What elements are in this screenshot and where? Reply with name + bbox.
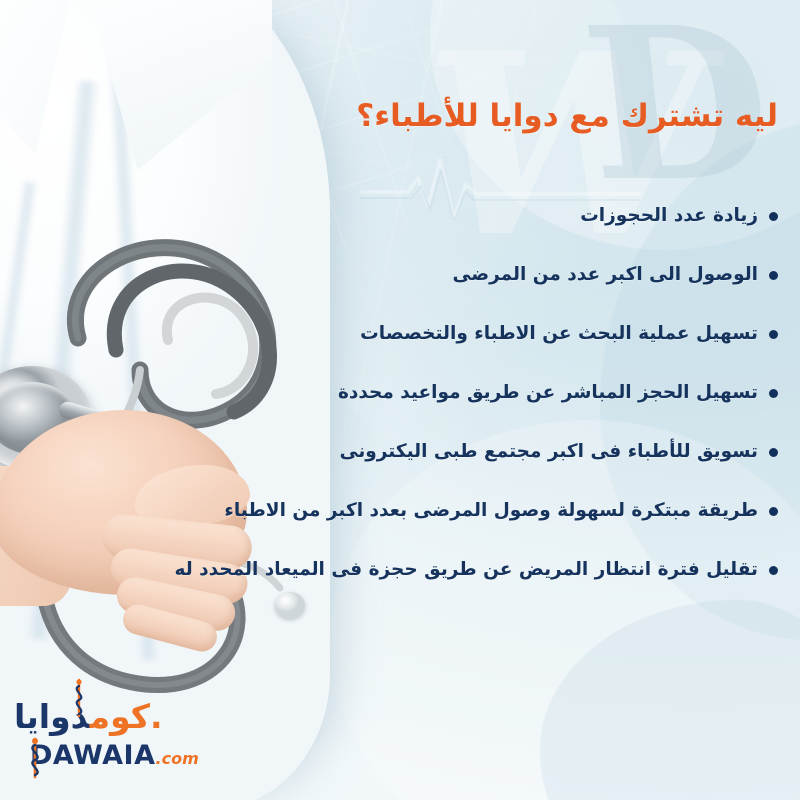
benefit-label: تسهيل الحجز المباشر عن طريق مواعيد محددة bbox=[338, 382, 758, 403]
caduceus-icon bbox=[20, 736, 50, 780]
logo-arabic-wordmark: .كومدوايا bbox=[14, 700, 230, 735]
bullet-point-icon bbox=[769, 566, 778, 575]
benefit-label: زيادة عدد الحجوزات bbox=[580, 205, 758, 226]
bullet-point-icon bbox=[769, 330, 778, 339]
bullet-point-icon bbox=[769, 271, 778, 280]
benefit-item: زيادة عدد الحجوزات bbox=[8, 186, 778, 245]
caduceus-icon bbox=[66, 678, 92, 718]
logo-latin-wordmark: DAWAIA.com bbox=[30, 740, 199, 771]
benefit-label: الوصول الى اكبر عدد من المرضى bbox=[453, 264, 759, 285]
bullet-point-icon bbox=[769, 448, 778, 457]
brand-logo[interactable]: .كومدوايا DAWAIA.com bbox=[14, 700, 234, 784]
bullet-point-icon bbox=[769, 212, 778, 221]
benefit-label: تسويق للأطباء فى اكبر مجتمع طبى اليكترون… bbox=[340, 441, 758, 462]
poster-content: ليه تشترك مع دوايا للأطباء؟ زيادة عدد ال… bbox=[0, 0, 800, 800]
benefits-list: زيادة عدد الحجوزات الوصول الى اكبر عدد م… bbox=[8, 186, 778, 599]
benefit-label: تسهيل عملية البحث عن الاطباء والتخصصات bbox=[360, 323, 758, 344]
logo-tld: .com bbox=[156, 749, 199, 768]
benefit-item: الوصول الى اكبر عدد من المرضى bbox=[8, 245, 778, 304]
bullet-point-icon bbox=[769, 507, 778, 516]
benefit-item: تسهيل الحجز المباشر عن طريق مواعيد محددة bbox=[8, 363, 778, 422]
benefit-item: تسويق للأطباء فى اكبر مجتمع طبى اليكترون… bbox=[8, 422, 778, 481]
benefit-item: طريقة مبتكرة لسهولة وصول المرضى بعدد اكب… bbox=[8, 481, 778, 540]
logo-arabic-suffix: .كوم bbox=[90, 697, 163, 736]
benefit-item: تقليل فترة انتظار المريض عن طريق حجزة فى… bbox=[8, 540, 778, 599]
bullet-point-icon bbox=[769, 389, 778, 398]
benefit-label: تقليل فترة انتظار المريض عن طريق حجزة فى… bbox=[175, 559, 758, 580]
promo-poster: W D bbox=[0, 0, 800, 800]
benefit-label: طريقة مبتكرة لسهولة وصول المرضى بعدد اكب… bbox=[224, 500, 758, 521]
benefit-item: تسهيل عملية البحث عن الاطباء والتخصصات bbox=[8, 304, 778, 363]
poster-headline: ليه تشترك مع دوايا للأطباء؟ bbox=[218, 98, 778, 134]
